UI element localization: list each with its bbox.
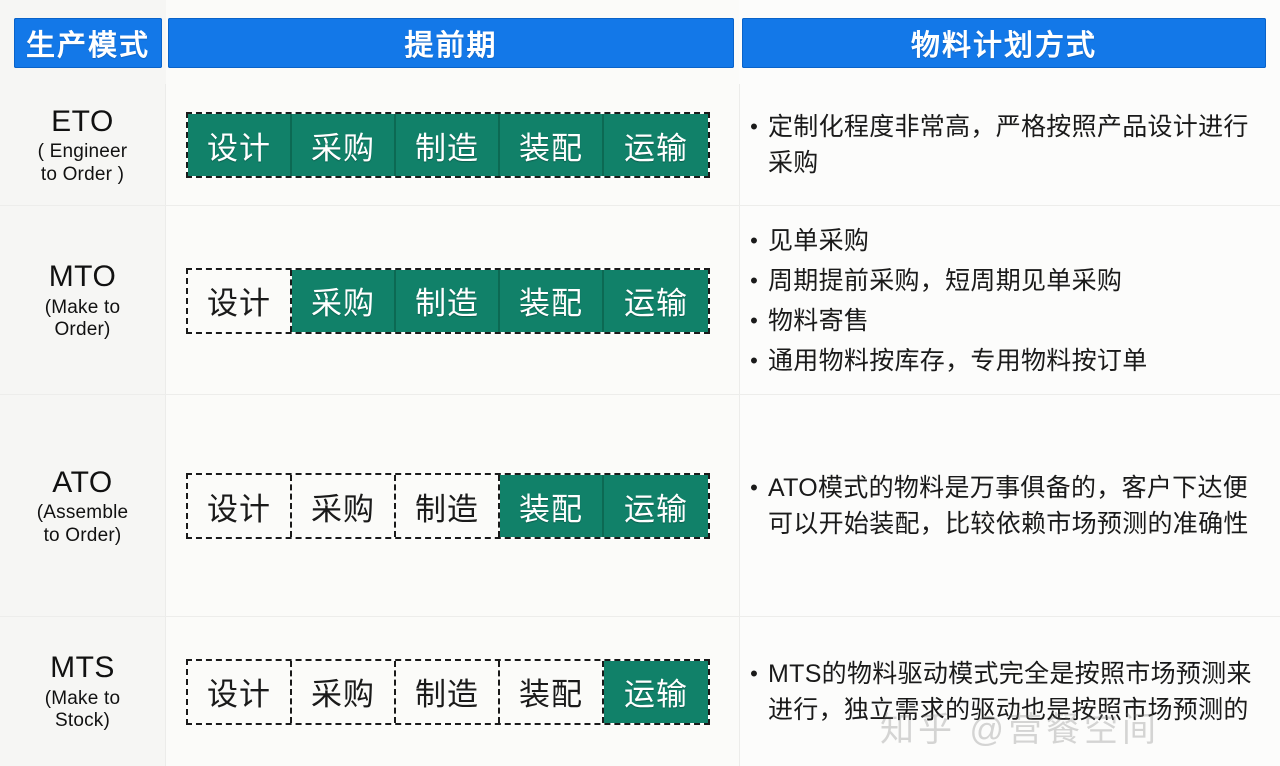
- bullet-dot-icon: •: [740, 470, 768, 506]
- mode-full-line2: to Order ): [41, 164, 124, 186]
- bullet-dot-icon: •: [740, 109, 768, 145]
- stage-block-purchase[interactable]: 采购: [292, 661, 396, 723]
- stage-strip: 设计 采购 制造 装配 运输: [186, 473, 710, 539]
- mode-full-line2: to Order): [44, 525, 122, 547]
- header-label-lead-time: 提前期: [404, 22, 497, 64]
- stage-block-transport[interactable]: 运输: [604, 114, 708, 176]
- stage-block-transport[interactable]: 运输: [604, 270, 708, 332]
- bullet-item: • 周期提前采购，短周期见单采购: [740, 263, 1280, 299]
- table-row-eto: ETO ( Engineer to Order ) 设计 采购 制造 装配 运输…: [0, 84, 1280, 206]
- stage-block-purchase[interactable]: 采购: [292, 114, 396, 176]
- stage-block-assemble[interactable]: 装配: [500, 114, 604, 176]
- stage-block-assemble[interactable]: 装配: [500, 475, 604, 537]
- stage-strip-cell-mts: 设计 采购 制造 装配 运输: [166, 617, 739, 766]
- bullet-item: • 定制化程度非常高，严格按照产品设计进行采购: [740, 109, 1280, 181]
- mode-full-line1: (Assemble: [37, 502, 129, 524]
- bullet-dot-icon: •: [740, 263, 768, 299]
- bullet-item: • 见单采购: [740, 223, 1280, 259]
- stage-block-assemble[interactable]: 装配: [500, 661, 604, 723]
- comparison-table-page: 生产模式 提前期 物料计划方式 ETO ( Engineer to Order …: [0, 0, 1280, 766]
- header-label-material-planning: 物料计划方式: [911, 22, 1097, 64]
- bullet-item: • ATO模式的物料是万事俱备的，客户下达便可以开始装配，比较依赖市场预测的准确…: [740, 470, 1280, 542]
- bullet-dot-icon: •: [740, 303, 768, 339]
- stage-block-manufacture[interactable]: 制造: [396, 475, 500, 537]
- mode-full-line1: ( Engineer: [38, 141, 128, 163]
- bullet-text: 见单采购: [768, 223, 1280, 259]
- mode-full-line1: (Make to: [45, 297, 121, 319]
- bullet-item: • MTS的物料驱动模式完全是按照市场预测来进行，独立需求的驱动也是按照市场预测…: [740, 656, 1280, 728]
- stage-block-design[interactable]: 设计: [188, 270, 292, 332]
- table-row-mto: MTO (Make to Order) 设计 采购 制造 装配 运输 • 见单采…: [0, 206, 1280, 395]
- mode-abbr: MTO: [49, 259, 117, 294]
- header-cell-material-planning: 物料计划方式: [742, 18, 1266, 68]
- mode-abbr: ETO: [51, 104, 114, 139]
- bullet-text: 周期提前采购，短周期见单采购: [768, 263, 1280, 299]
- stage-block-design[interactable]: 设计: [188, 661, 292, 723]
- bullet-text: ATO模式的物料是万事俱备的，客户下达便可以开始装配，比较依赖市场预测的准确性: [768, 470, 1280, 542]
- bullet-dot-icon: •: [740, 343, 768, 379]
- bullet-dot-icon: •: [740, 223, 768, 259]
- bullet-text: 物料寄售: [768, 303, 1280, 339]
- bullet-item: • 通用物料按库存，专用物料按订单: [740, 343, 1280, 379]
- stage-block-manufacture[interactable]: 制造: [396, 661, 500, 723]
- table-header: 生产模式 提前期 物料计划方式: [0, 0, 1280, 78]
- header-cell-production-mode: 生产模式: [14, 18, 162, 68]
- table-row-ato: ATO (Assemble to Order) 设计 采购 制造 装配 运输 •…: [0, 395, 1280, 617]
- bullet-text: 通用物料按库存，专用物料按订单: [768, 343, 1280, 379]
- bullet-text: MTS的物料驱动模式完全是按照市场预测来进行，独立需求的驱动也是按照市场预测的: [768, 656, 1280, 728]
- description-cell-eto: • 定制化程度非常高，严格按照产品设计进行采购: [740, 84, 1280, 206]
- bullet-item: • 物料寄售: [740, 303, 1280, 339]
- stage-block-design[interactable]: 设计: [188, 475, 292, 537]
- stage-block-transport[interactable]: 运输: [604, 661, 708, 723]
- table-row-mts: MTS (Make to Stock) 设计 采购 制造 装配 运输 • MTS…: [0, 617, 1280, 766]
- stage-strip-cell-eto: 设计 采购 制造 装配 运输: [166, 84, 739, 206]
- mode-full-line2: Stock): [55, 710, 110, 732]
- stage-strip: 设计 采购 制造 装配 运输: [186, 268, 710, 334]
- stage-block-assemble[interactable]: 装配: [500, 270, 604, 332]
- mode-abbr: MTS: [50, 650, 115, 685]
- mode-abbr: ATO: [52, 465, 112, 500]
- stage-strip: 设计 采购 制造 装配 运输: [186, 659, 710, 725]
- header-label-production-mode: 生产模式: [26, 22, 150, 64]
- stage-block-manufacture[interactable]: 制造: [396, 270, 500, 332]
- header-cell-lead-time: 提前期: [168, 18, 734, 68]
- description-cell-ato: • ATO模式的物料是万事俱备的，客户下达便可以开始装配，比较依赖市场预测的准确…: [740, 395, 1280, 617]
- stage-strip: 设计 采购 制造 装配 运输: [186, 112, 710, 178]
- stage-block-transport[interactable]: 运输: [604, 475, 708, 537]
- description-cell-mto: • 见单采购 • 周期提前采购，短周期见单采购 • 物料寄售 • 通用物料按库存…: [740, 206, 1280, 395]
- mode-full-line2: Order): [54, 319, 110, 341]
- stage-block-purchase[interactable]: 采购: [292, 270, 396, 332]
- stage-block-purchase[interactable]: 采购: [292, 475, 396, 537]
- stage-strip-cell-ato: 设计 采购 制造 装配 运输: [166, 395, 739, 617]
- mode-label-ato: ATO (Assemble to Order): [0, 395, 165, 617]
- bullet-dot-icon: •: [740, 656, 768, 692]
- stage-block-design[interactable]: 设计: [188, 114, 292, 176]
- mode-label-eto: ETO ( Engineer to Order ): [0, 84, 165, 206]
- mode-full-line1: (Make to: [45, 688, 121, 710]
- mode-label-mto: MTO (Make to Order): [0, 206, 165, 395]
- description-cell-mts: • MTS的物料驱动模式完全是按照市场预测来进行，独立需求的驱动也是按照市场预测…: [740, 617, 1280, 766]
- stage-block-manufacture[interactable]: 制造: [396, 114, 500, 176]
- stage-strip-cell-mto: 设计 采购 制造 装配 运输: [166, 206, 739, 395]
- bullet-text: 定制化程度非常高，严格按照产品设计进行采购: [768, 109, 1280, 181]
- mode-label-mts: MTS (Make to Stock): [0, 617, 165, 766]
